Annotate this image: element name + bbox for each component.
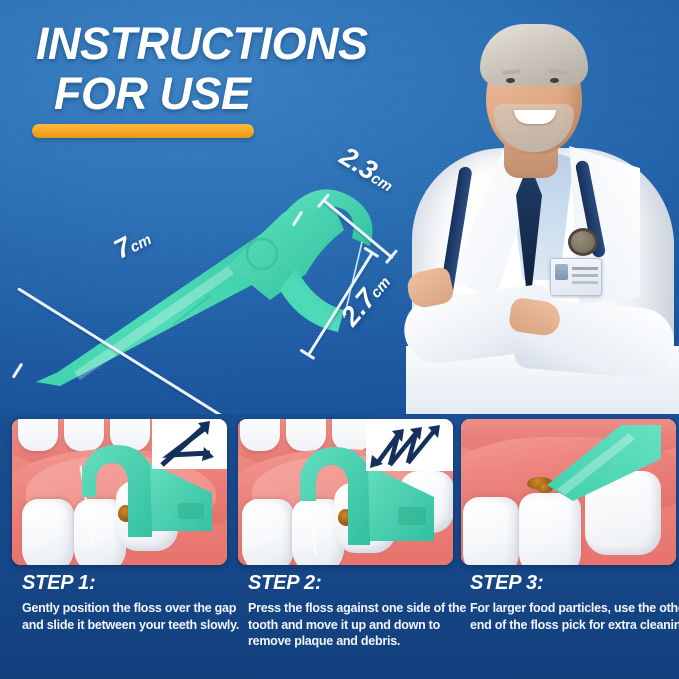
title-underline-accent <box>32 124 254 138</box>
step-2-caption: STEP 2: Press the floss against one side… <box>248 572 470 650</box>
steps-section: STEP 1: Gently position the floss over t… <box>0 414 679 679</box>
id-badge <box>550 258 602 296</box>
pick-tip-illustration <box>461 419 676 565</box>
eye-right <box>550 78 559 83</box>
step-3-illustration <box>461 419 676 565</box>
step-2-body: Press the floss against one side of the … <box>248 600 470 650</box>
product-diagram: 7cm 2.3cm 2.7cm <box>14 150 434 400</box>
step-captions: STEP 1: Gently position the floss over t… <box>0 572 679 679</box>
title-line-2: FOR USE <box>54 72 436 116</box>
step-1-body: Gently position the floss over the gap a… <box>22 600 244 633</box>
eye-left <box>506 78 515 83</box>
up-down-motion-arrows-icon <box>364 421 453 477</box>
step-1-caption: STEP 1: Gently position the floss over t… <box>22 572 244 633</box>
step-2-title: STEP 2: <box>248 572 470 595</box>
hero-section: INSTRUCTIONS FOR USE <box>0 0 679 414</box>
step-3-body: For larger food particles, use the other… <box>470 600 679 633</box>
up-down-motion-arrow-icon <box>152 419 227 474</box>
step-2-illustration <box>238 419 453 565</box>
page-title: INSTRUCTIONS FOR USE <box>36 22 436 116</box>
step-3-title: STEP 3: <box>470 572 679 595</box>
step-illustrations <box>0 419 679 567</box>
step-1-title: STEP 1: <box>22 572 244 595</box>
stethoscope-chestpiece <box>568 228 598 256</box>
step-3-caption: STEP 3: For larger food particles, use t… <box>470 572 679 633</box>
step-1-illustration <box>12 419 227 565</box>
infographic-page: INSTRUCTIONS FOR USE <box>0 0 679 679</box>
doctor-photo <box>398 0 679 414</box>
hair <box>480 24 588 86</box>
title-line-1: INSTRUCTIONS <box>36 22 436 66</box>
